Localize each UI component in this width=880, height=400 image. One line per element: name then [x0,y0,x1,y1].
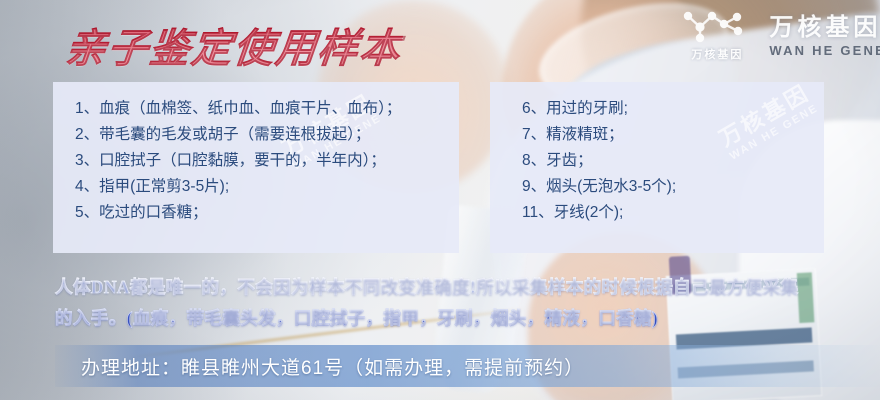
list-item: 9、烟头(无泡水3-5个); [522,174,824,200]
list-item: 2、带毛囊的毛发或胡子（需要连根拔起）； [75,122,459,148]
list-item: 6、用过的牙刷; [522,96,824,122]
page-title: 亲子鉴定使用样本 [63,16,405,74]
poster-root: 亲子鉴定使用样本 [0,0,880,400]
note-line-2: 的入手。(血痕，带毛囊头发，口腔拭子，指甲，牙刷，烟头，精液，口香糖) [55,303,845,334]
sample-list-right: 6、用过的牙刷; 7、精液精斑； 8、牙齿； 9、烟头(无泡水3-5个); 11… [490,82,824,226]
brand-logo: 万核基因 万核基因 WAN HE GENE [681,10,880,62]
list-item: 3、口腔拭子（口腔黏膜，要干的，半年内）； [75,148,459,174]
address-bar-text: 办理地址：睢县睢州大道61号（如需办理，需提前预约） [55,353,584,380]
molecule-node-icon [681,10,753,44]
address-bar: 办理地址：睢县睢州大道61号（如需办理，需提前预约） [55,345,880,387]
note-line-1: 人体DNA都是唯一的，不会因为样本不同改变准确度!所以采集样本的时候根据自己最方… [55,272,845,303]
list-item: 8、牙齿； [522,148,824,174]
list-item: 11、牙线(2个); [522,200,824,226]
list-item: 7、精液精斑； [522,122,824,148]
logo-mark: 万核基因 [681,10,753,62]
list-item: 5、吃过的口香糖； [75,200,459,226]
logo-wordmark: 万核基因 WAN HE GENE [769,16,880,57]
list-item: 1、血痕（血棉签、纸巾血、血痕干片、血布）； [75,96,459,122]
logo-mark-label: 万核基因 [691,46,743,62]
sample-panel-right: 万核基因 WAN HE GENE 6、用过的牙刷; 7、精液精斑； 8、牙齿； … [490,82,824,253]
explanatory-note: 人体DNA都是唯一的，不会因为样本不同改变准确度!所以采集样本的时候根据自己最方… [55,272,845,334]
sample-list-left: 1、血痕（血棉签、纸巾血、血痕干片、血布）； 2、带毛囊的毛发或胡子（需要连根拔… [53,82,459,226]
logo-wordmark-cn: 万核基因 [769,16,880,40]
logo-wordmark-en: WAN HE GENE [769,44,880,57]
sample-panel-left: 万核基因 WAN HE GENE 1、血痕（血棉签、纸巾血、血痕干片、血布）； … [53,82,459,253]
list-item: 4、指甲(正常剪3-5片); [75,174,459,200]
